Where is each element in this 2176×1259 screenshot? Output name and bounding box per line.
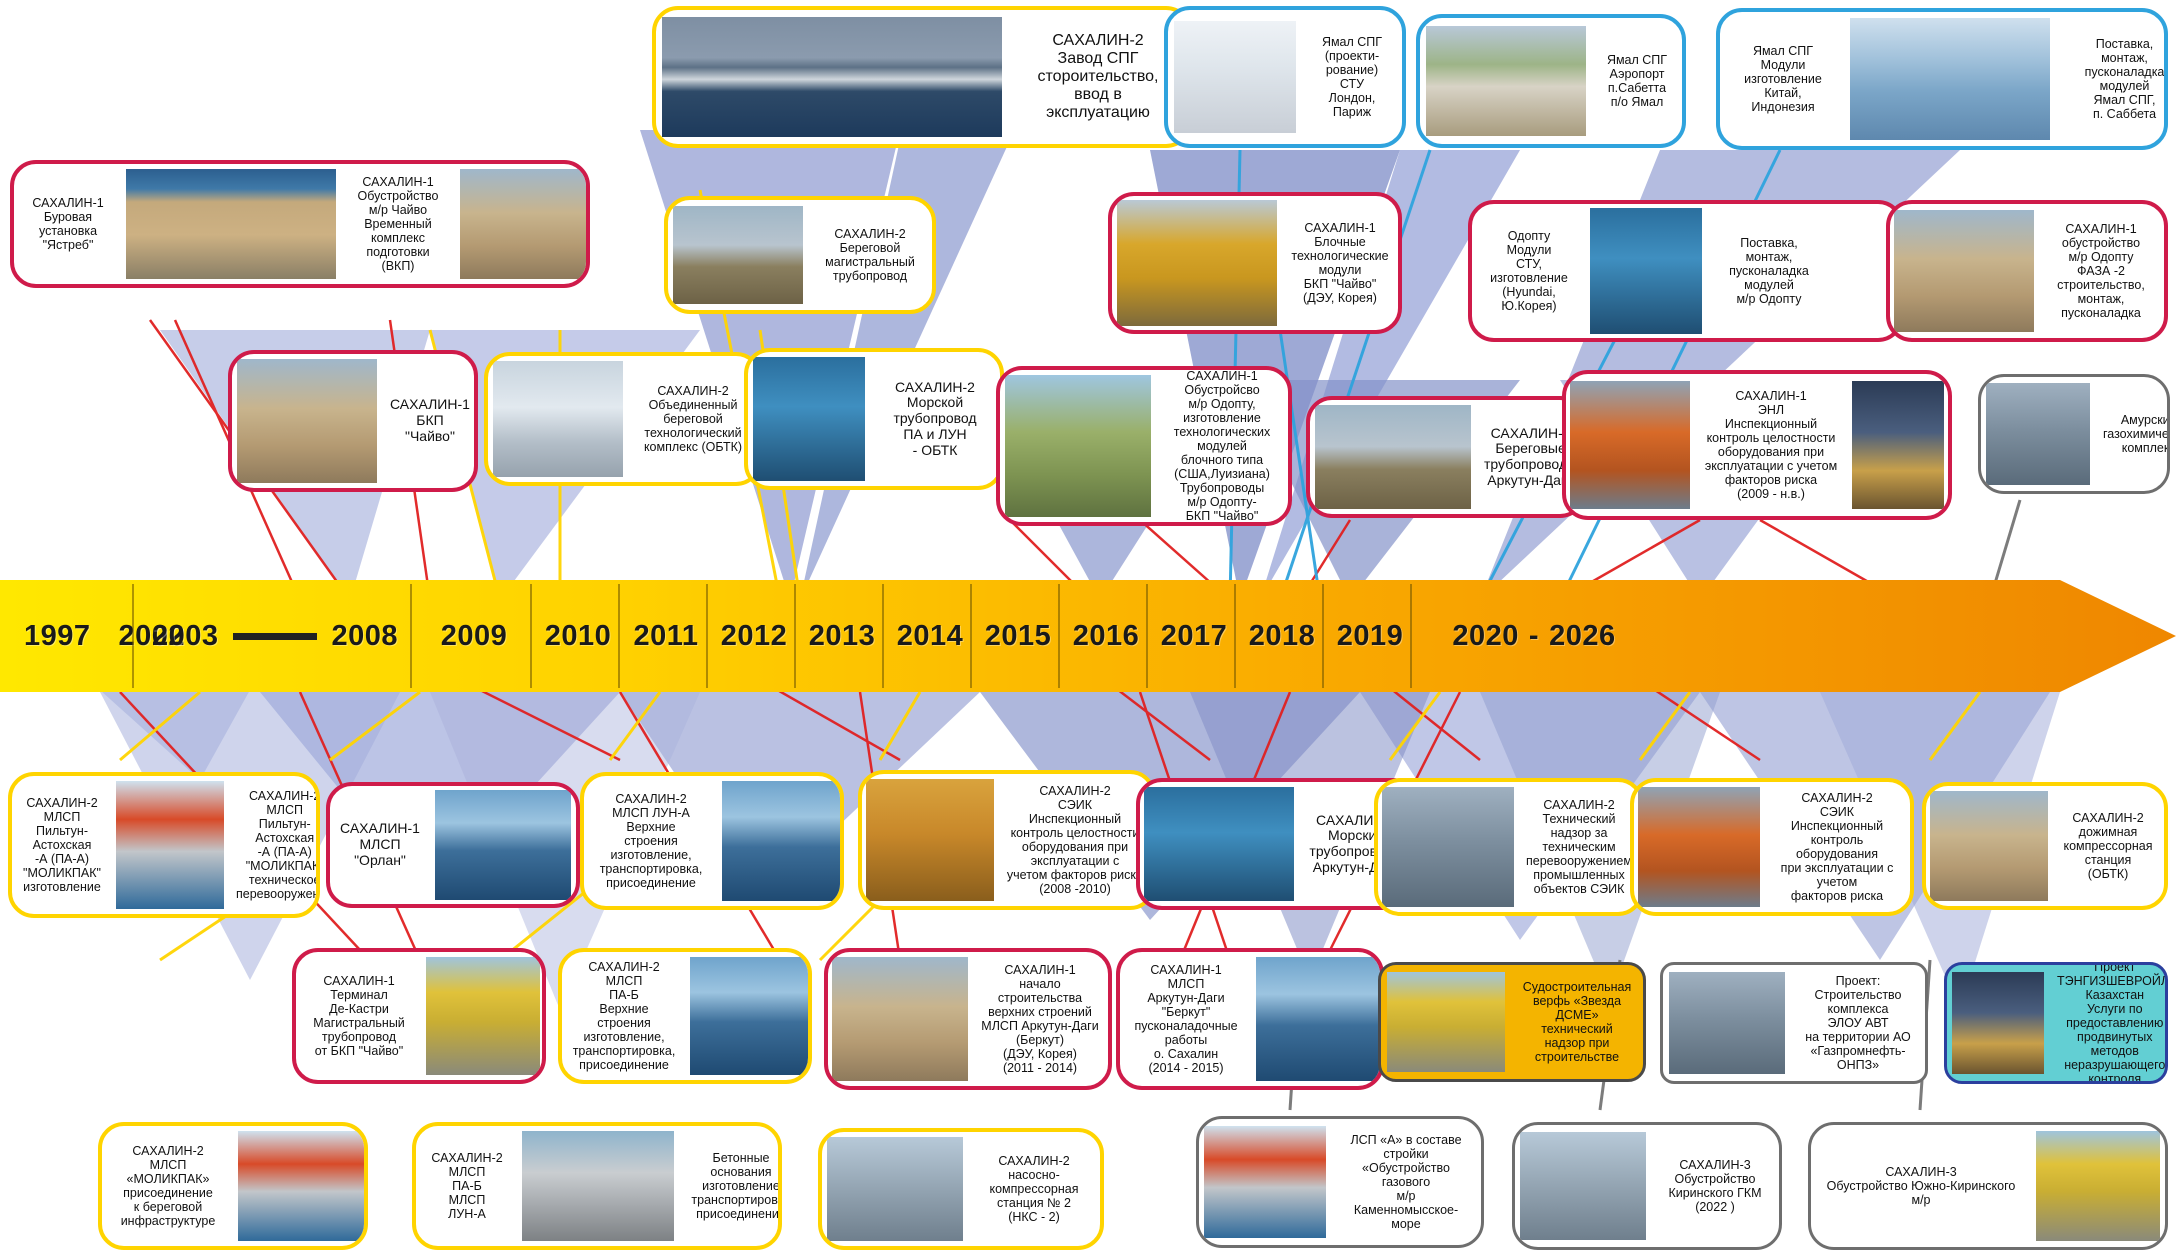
photo-vkp <box>460 169 590 279</box>
callout-sah1-yastreb[interactable]: САХАЛИН-1Буроваяустановка"Ястреб" САХАЛИ… <box>10 160 590 288</box>
callout-sah1-bkp-chayvo[interactable]: САХАЛИН-1БКП "Чайво" <box>228 350 478 492</box>
callout-zvezda-dsme[interactable]: Судостроительнаяверфь «ЗвездаДСМЕ»технич… <box>1378 962 1646 1082</box>
callout-text-right: Поставка,монтаж,пусконаладкамодулейм/р О… <box>1706 232 1832 310</box>
photo-molikpaq-connect <box>238 1131 366 1241</box>
timeline-year-c2009[interactable]: 2009 <box>414 580 534 692</box>
callout-text: САХАЛИН-2Объединенныйбереговойтехнологич… <box>628 380 758 458</box>
photo-de-kastri <box>426 957 540 1075</box>
callout-text: САХАЛИН-2насосно-компрессорнаястанция № … <box>968 1150 1100 1228</box>
callout-tengizchevroil[interactable]: ПроектТЭНГИЗШЕВРОЙЛ,КазахстанУслуги попр… <box>1944 962 2168 1084</box>
callout-text: САХАЛИН-1обустройством/р ОдоптуФАЗА -2ст… <box>2038 218 2164 324</box>
callout-text-left: САХАЛИН-1Буроваяустановка"Ястреб" <box>14 192 122 256</box>
callout-sah2-booster-station[interactable]: САХАЛИН-2дожимнаякомпрессорнаястанция(ОБ… <box>1922 782 2168 910</box>
photo-tengiz <box>1952 972 2044 1074</box>
timeline-cell-divider <box>882 584 884 688</box>
timeline-year-label: 1997 <box>24 620 91 653</box>
timeline-year-label-end: 2008 <box>331 620 398 653</box>
callout-text-left: Ямал СПГМодулиизготовлениеКитай,Индонези… <box>1720 40 1846 118</box>
callout-text-left: САХАЛИН-2МЛСППильтун-Астохская-А (ПА-А)"… <box>12 792 112 898</box>
callout-sah1-berkut-commissioning[interactable]: САХАЛИН-1МЛСПАркутун-Даги"Беркут"пускона… <box>1116 948 1384 1090</box>
callout-text: САХАЛИН-2СЭИКИнспекционныйконтроль целос… <box>998 780 1152 900</box>
timeline-cell-divider <box>1058 584 1060 688</box>
timeline-cell-divider <box>1146 584 1148 688</box>
callout-sah1-onshore-pipelines-ad[interactable]: САХАЛИН-1БереговыетрубопроводыАркутун-Да… <box>1306 396 1586 518</box>
timeline-year-label: 2009 <box>441 620 508 653</box>
timeline-year-label: 2020 <box>1452 620 1519 653</box>
timeline-cell-divider <box>706 584 708 688</box>
callout-sah3-yuzhno-kirinskoe[interactable]: САХАЛИН-3Обустройство Южно-Киринского м/… <box>1808 1122 2168 1250</box>
timeline-year-label: 2012 <box>721 620 788 653</box>
timeline-year-cells: 1997200220032008200920102011201220132014… <box>0 580 2176 692</box>
photo-enl-inspection-2 <box>1852 381 1944 509</box>
callout-sah1-de-kastri[interactable]: САХАЛИН-1ТерминалДе-КастриМагистральныйт… <box>292 948 546 1084</box>
callout-text: САХАЛИН-2Техническийнадзор затехническим… <box>1518 794 1640 900</box>
callout-text: САХАЛИН-2МЛСП ЛУН-АВерхниестроенияизгото… <box>584 788 718 894</box>
callout-sah2-molikpaq-mfg[interactable]: САХАЛИН-2МЛСППильтун-Астохская-А (ПА-А)"… <box>8 772 320 918</box>
callout-sah1-odoptu-dev[interactable]: САХАЛИН-1Обустройсвом/р Одопту,изготовле… <box>996 366 1292 526</box>
timeline-range-dash <box>233 633 318 640</box>
callout-text: Проект:СтроительствокомплексаЭЛОУ АВТна … <box>1791 970 1925 1076</box>
callout-sah2-lun-a-topsides[interactable]: САХАЛИН-2МЛСП ЛУН-АВерхниестроенияизгото… <box>580 772 844 910</box>
callout-text: САХАЛИН-3ОбустройствоКиринского ГКМ(2022… <box>1651 1154 1779 1218</box>
callout-text-left: САХАЛИН-2МЛСППА-БМЛСПЛУН-А <box>416 1147 518 1225</box>
timeline-range-separator: - <box>1529 620 1539 653</box>
callout-text: Ямал СПГАэропортп.Сабеттап/о Ямал <box>1592 49 1682 113</box>
photo-yamal-design <box>1174 21 1296 133</box>
callout-text: САХАЛИН-1МЛСПАркутун-Даги"Беркут"пускона… <box>1120 959 1252 1079</box>
timeline-year-label: 2016 <box>1073 620 1140 653</box>
callout-text: САХАЛИН-1БлочныетехнологическиемодулиБКП… <box>1282 217 1398 309</box>
callout-lsp-a-kamennomysskoe[interactable]: ЛСП «А» в составестройки«Обустройствогаз… <box>1196 1116 1484 1248</box>
callout-text: ПроектТЭНГИЗШЕВРОЙЛ,КазахстанУслуги попр… <box>2049 962 2168 1084</box>
timeline-cell-divider <box>1234 584 1236 688</box>
timeline-year-label: 2014 <box>897 620 964 653</box>
timeline-cell-divider <box>794 584 796 688</box>
photo-nks-2 <box>827 1137 963 1241</box>
callout-text: ЛСП «А» в составестройки«Обустройствогаз… <box>1331 1129 1481 1235</box>
timeline-year-c2019[interactable]: 2019 <box>1326 580 1414 692</box>
callout-text: САХАЛИН-2МорскойтрубопроводПА и ЛУН- ОБТ… <box>870 376 1000 462</box>
photo-yamal-modules <box>1850 18 2050 140</box>
callout-sah2-molikpaq-connect[interactable]: САХАЛИН-2МЛСП«МОЛИКПАК»присоединениек бе… <box>98 1122 368 1250</box>
callout-sah1-enl-inspection[interactable]: САХАЛИН-1ЭНЛИнспекционныйконтроль целост… <box>1562 370 1952 520</box>
timeline-year-c2013[interactable]: 2013 <box>798 580 886 692</box>
photo-lsp-a <box>1204 1126 1326 1238</box>
photo-bkp-chayvo <box>237 359 377 483</box>
photo-booster-station <box>1930 791 2048 901</box>
photo-amur-complex <box>1986 383 2090 485</box>
callout-yamal-modules[interactable]: Ямал СПГМодулиизготовлениеКитай,Индонези… <box>1716 8 2168 150</box>
photo-onpz <box>1669 972 1785 1074</box>
photo-odoptu-phase2 <box>1894 210 2034 332</box>
timeline-year-c2018[interactable]: 2018 <box>1238 580 1326 692</box>
photo-onshore-pipeline <box>673 206 803 304</box>
timeline-cell-divider <box>970 584 972 688</box>
timeline-year-label: 2010 <box>545 620 612 653</box>
callout-text: САХАЛИН-3Обустройство Южно-Киринского м/… <box>1811 1161 2031 1211</box>
photo-pa-b-topsides <box>690 957 808 1075</box>
callout-text: САХАЛИН-1ТерминалДе-КастриМагистральныйт… <box>296 970 422 1062</box>
timeline-year-c2014[interactable]: 2014 <box>886 580 974 692</box>
timeline-year-label: 2019 <box>1337 620 1404 653</box>
photo-risk-inspection <box>1638 787 1760 907</box>
timeline-year-label: 2011 <box>634 620 699 653</box>
callout-amur-gas-chem[interactable]: Амурскийгазохимическийкомплекс <box>1978 374 2170 494</box>
callout-elou-avt-onpz[interactable]: Проект:СтроительствокомплексаЭЛОУ АВТна … <box>1660 962 1928 1084</box>
callout-yamal-design[interactable]: Ямал СПГ(проекти-рование)СТУЛондон,Париж <box>1164 6 1406 148</box>
callout-sah1-berkut-construction[interactable]: САХАЛИН-1началостроительстваверхних стро… <box>824 948 1112 1090</box>
callout-sah2-tech-supervision[interactable]: САХАЛИН-2Техническийнадзор затехническим… <box>1374 778 1644 916</box>
photo-lun-a <box>722 781 844 901</box>
photo-tech-supervision <box>1382 787 1514 907</box>
timeline-year-c2017[interactable]: 2017 <box>1150 580 1238 692</box>
photo-molikpaq <box>116 781 224 909</box>
timeline-year-label: 2015 <box>985 620 1052 653</box>
timeline-year-c2012[interactable]: 2012 <box>710 580 798 692</box>
callout-text: САХАЛИН-1Обустройсвом/р Одопту,изготовле… <box>1156 366 1288 526</box>
photo-chayvo-modules <box>1117 200 1277 326</box>
timeline-year-label: 2018 <box>1249 620 1316 653</box>
photo-enl-inspection-1 <box>1570 381 1690 509</box>
callout-text: САХАЛИН-1БКП "Чайво" <box>382 393 478 448</box>
callout-text-left: ОдоптуМодулиСТУ,изготовление(Hyundai,Ю.К… <box>1472 225 1586 317</box>
callout-sah1-orlan[interactable]: САХАЛИН-1МЛСП"Орлан" <box>326 782 580 908</box>
callout-text: САХАЛИН-2МЛСППА-БВерхниестроенияизготовл… <box>562 956 686 1076</box>
callout-sah1-odoptu-phase2[interactable]: САХАЛИН-1обустройством/р ОдоптуФАЗА -2ст… <box>1886 200 2168 342</box>
callout-text: САХАЛИН-1МЛСП"Орлан" <box>330 817 430 872</box>
callout-text: САХАЛИН-2дожимнаякомпрессорнаястанция(ОБ… <box>2052 807 2164 885</box>
photo-berkut-platform <box>1256 957 1380 1081</box>
photo-seic-inspection <box>866 779 994 901</box>
timeline-year-label: 2003 <box>152 620 219 653</box>
callout-text-right: Поставка,монтаж,пусконаладкамодулейЯмал … <box>2054 33 2168 125</box>
callout-text: Судостроительнаяверфь «ЗвездаДСМЕ»технич… <box>1511 976 1643 1068</box>
callout-text: Амурскийгазохимическийкомплекс <box>2095 409 2170 459</box>
callout-text: САХАЛИН-1ЭНЛИнспекционныйконтроль целост… <box>1694 385 1848 505</box>
timeline-cell-divider <box>1410 584 1412 688</box>
timeline-year-label-end: 2026 <box>1549 620 1616 653</box>
callout-odoptu-modules[interactable]: ОдоптуМодулиСТУ,изготовление(Hyundai,Ю.К… <box>1468 200 1904 342</box>
timeline-year-label: 2013 <box>809 620 876 653</box>
photo-lng-plant <box>662 17 1002 137</box>
callout-text: Ямал СПГ(проекти-рование)СТУЛондон,Париж <box>1302 31 1402 123</box>
photo-zvezda-shipyard <box>1387 972 1505 1072</box>
photo-offshore-ad <box>1144 787 1294 901</box>
callout-text: САХАЛИН-2Завод СПГстороительство,ввод вэ… <box>1008 28 1188 126</box>
timeline-year-c2010[interactable]: 2010 <box>534 580 622 692</box>
timeline-year-c2016[interactable]: 2016 <box>1062 580 1150 692</box>
callout-sah1-modules-chayvo[interactable]: САХАЛИН-1БлочныетехнологическиемодулиБКП… <box>1108 192 1402 334</box>
callout-sah3-kirinskoe[interactable]: САХАЛИН-3ОбустройствоКиринского ГКМ(2022… <box>1512 1122 1782 1250</box>
callout-sah2-seic-inspection[interactable]: САХАЛИН-2СЭИКИнспекционныйконтроль целос… <box>858 770 1156 910</box>
timeline-year-c2015[interactable]: 2015 <box>974 580 1062 692</box>
callout-sah2-pa-b-lun-a-bases[interactable]: САХАЛИН-2МЛСППА-БМЛСПЛУН-А Бетонныеоснов… <box>412 1122 782 1250</box>
callout-sah2-offshore-pipeline[interactable]: САХАЛИН-2МорскойтрубопроводПА и ЛУН- ОБТ… <box>744 348 1004 490</box>
callout-text: САХАЛИН-2СЭИКИнспекционныйконтрольоборуд… <box>1764 787 1910 907</box>
photo-ad-pipelines <box>1315 405 1471 509</box>
photo-yamal-airport <box>1426 26 1586 136</box>
callout-text: САХАЛИН-2Береговоймагистральныйтрубопров… <box>808 223 932 287</box>
timeline-year-c2003[interactable]: 20032008 <box>136 580 414 692</box>
timeline-year-c2020[interactable]: 2020-2026 <box>1414 580 1654 692</box>
timeline-year-label: 2017 <box>1161 620 1228 653</box>
photo-orlan <box>435 790 571 900</box>
photo-berkut-construction <box>832 957 968 1081</box>
photo-offshore-pipeline <box>753 357 865 481</box>
timeline-cell-divider <box>530 584 532 688</box>
callout-text-right: Бетонныеоснованияизготовлениетранспортир… <box>678 1147 782 1225</box>
photo-odoptu-modules <box>1590 208 1702 334</box>
photo-concrete-bases <box>522 1131 674 1241</box>
callout-text-right: САХАЛИН-2МЛСППильтун-Астохская-А (ПА-А)"… <box>228 785 320 905</box>
timeline-cell-divider <box>618 584 620 688</box>
callout-text: САХАЛИН-2МЛСП«МОЛИКПАК»присоединениек бе… <box>102 1140 234 1232</box>
timeline-year-c2011[interactable]: 2011 <box>622 580 710 692</box>
photo-chayvo-site <box>126 169 336 279</box>
callout-text: САХАЛИН-1началостроительстваверхних стро… <box>972 959 1108 1079</box>
infographic-root: 1997200220032008200920102011201220132014… <box>0 0 2176 1259</box>
timeline-cell-divider <box>132 584 134 688</box>
timeline-bar: 1997200220032008200920102011201220132014… <box>0 580 2176 692</box>
photo-odoptu-dev <box>1005 375 1151 517</box>
callout-sah2-lng-plant[interactable]: САХАЛИН-2Завод СПГстороительство,ввод вэ… <box>652 6 1192 148</box>
photo-yuzhno-kirinskoe <box>2036 1131 2160 1241</box>
timeline-cell-divider <box>410 584 412 688</box>
photo-obtk <box>493 361 623 477</box>
photo-kirinskoe <box>1520 1132 1646 1240</box>
callout-sah2-nks-2[interactable]: САХАЛИН-2насосно-компрессорнаястанция № … <box>818 1128 1104 1250</box>
callout-sah2-obtk[interactable]: САХАЛИН-2Объединенныйбереговойтехнологич… <box>484 352 762 486</box>
callout-sah2-onshore-pipeline[interactable]: САХАЛИН-2Береговоймагистральныйтрубопров… <box>664 196 936 314</box>
timeline-cell-divider <box>1322 584 1324 688</box>
callout-text-right: САХАЛИН-1Обустройством/р ЧайвоВременныйк… <box>340 171 456 277</box>
callout-sah2-seic-risk-inspection[interactable]: САХАЛИН-2СЭИКИнспекционныйконтрольоборуд… <box>1630 778 1914 916</box>
callout-sah2-pa-b-topsides[interactable]: САХАЛИН-2МЛСППА-БВерхниестроенияизготовл… <box>558 948 812 1084</box>
timeline-year-c1997[interactable]: 19972002 <box>8 580 136 692</box>
callout-yamal-airport[interactable]: Ямал СПГАэропортп.Сабеттап/о Ямал <box>1416 14 1686 148</box>
